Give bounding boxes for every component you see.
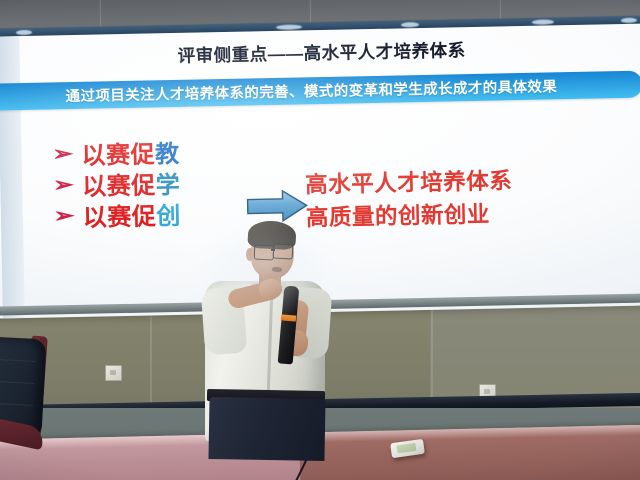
presenter-ear — [246, 248, 254, 261]
slide-left-margin — [0, 36, 25, 318]
wall-panel-seam — [431, 300, 433, 404]
slide: 评审侧重点——高水平人才培养体系 通过项目关注人才培养体系的完善、模式的变革和学… — [0, 24, 640, 319]
result-line-2: 高质量的创新创业 — [306, 197, 514, 234]
microphone-band — [281, 314, 296, 321]
glasses-bridge — [271, 249, 275, 251]
slide-banner: 通过项目关注人才培养体系的完善、模式的变革和学生成长成才的具体效果 — [0, 71, 640, 112]
projector-screen: 评审侧重点——高水平人才培养体系 通过项目关注人才培养体系的完善、模式的变革和学… — [0, 23, 640, 319]
presenter-mouth — [272, 267, 282, 273]
presenter-trousers — [208, 397, 325, 461]
bullet-text-prefix: 以赛促 — [83, 203, 157, 231]
glasses-left-lens — [254, 244, 275, 260]
bullet-text-accent: 创 — [156, 203, 181, 230]
slide-banner-text: 通过项目关注人才培养体系的完善、模式的变革和学生成长成才的具体效果 — [0, 74, 640, 109]
slide-result-block: 高水平人才培养体系 高质量的创新创业 — [305, 164, 513, 234]
glasses-right-lens — [273, 243, 294, 259]
presentation-photo: 评审侧重点——高水平人才培养体系 通过项目关注人才培养体系的完善、模式的变革和学… — [0, 0, 640, 480]
arrow-bullet-icon: ➢ — [53, 174, 86, 195]
power-socket-left — [105, 365, 122, 381]
arrow-bullet-icon: ➢ — [53, 205, 86, 226]
executive-chair — [0, 338, 62, 448]
arrow-bullet-icon: ➢ — [52, 143, 85, 164]
list-item: ➢ 以赛促创 — [57, 198, 182, 231]
result-line-1: 高水平人才培养体系 — [305, 164, 513, 201]
slide-title: 评审侧重点——高水平人才培养体系 — [0, 34, 640, 72]
slide-bullet-list: ➢ 以赛促教 ➢ 以赛促学 ➢ 以赛促创 — [55, 136, 181, 231]
wall-panel-seam — [150, 302, 152, 402]
